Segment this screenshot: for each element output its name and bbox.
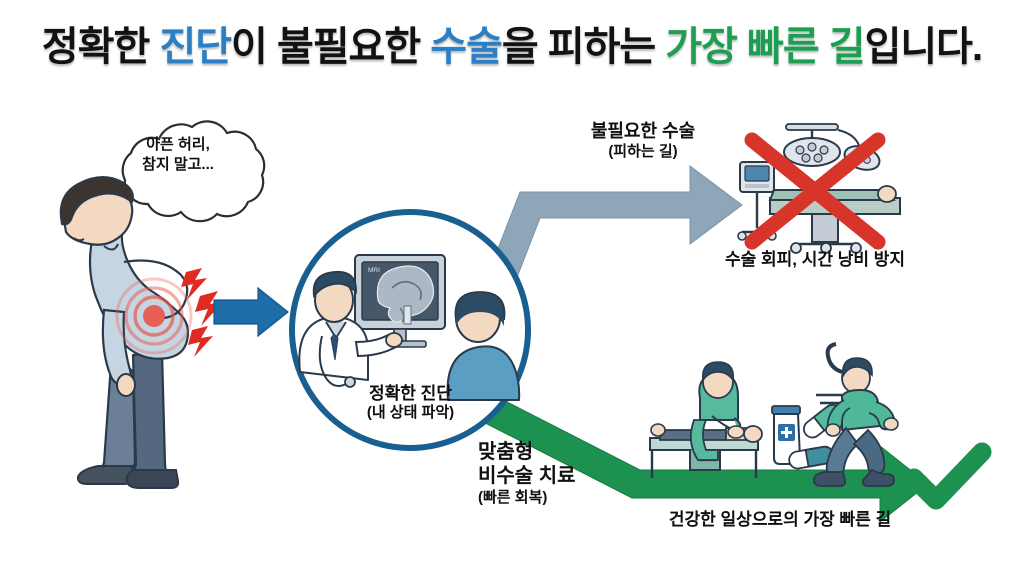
branch-top-result-caption: 수술 회피, 시간 낭비 방지 [680, 245, 950, 270]
branch-bottom-result-caption: 건강한 일상으로의 가장 빠른 길 [620, 505, 940, 530]
green-check-icon [914, 452, 982, 500]
thought-bubble-text: 아픈 허리, 참지 말고... [118, 135, 238, 176]
mri-screen-label: MRI [368, 267, 380, 274]
infographic-canvas: 정확한 진단이 불필요한 수술을 피하는 가장 빠른 길입니다. [0, 0, 1024, 572]
branch-top-label-main: 불필요한 수술 [591, 121, 695, 141]
bent-over-man-back-pain-icon [61, 177, 223, 488]
branch-top-label-sub: (피하는 길) [538, 143, 748, 162]
diagnosis-caption-main: 정확한 진단 [369, 384, 452, 403]
thought-line-2: 참지 말고... [142, 156, 214, 173]
branch-top-label: 불필요한 수술 (피하는 길) [538, 120, 748, 161]
diagnosis-caption-sub: (내 상태 파악) [298, 404, 523, 422]
diagnosis-caption: 정확한 진단 (내 상태 파악) [298, 384, 523, 422]
branch-bottom-label: 맞춤형 비수술 치료 (빠른 회복) [478, 440, 668, 507]
branch-bottom-label-line1: 맞춤형 [478, 441, 533, 463]
operating-room-crossed-out-icon [738, 124, 900, 253]
thought-line-1: 아픈 허리, [146, 136, 210, 153]
intro-arrow-icon [214, 288, 288, 336]
branch-bottom-label-line2: 비수술 치료 [478, 465, 576, 487]
